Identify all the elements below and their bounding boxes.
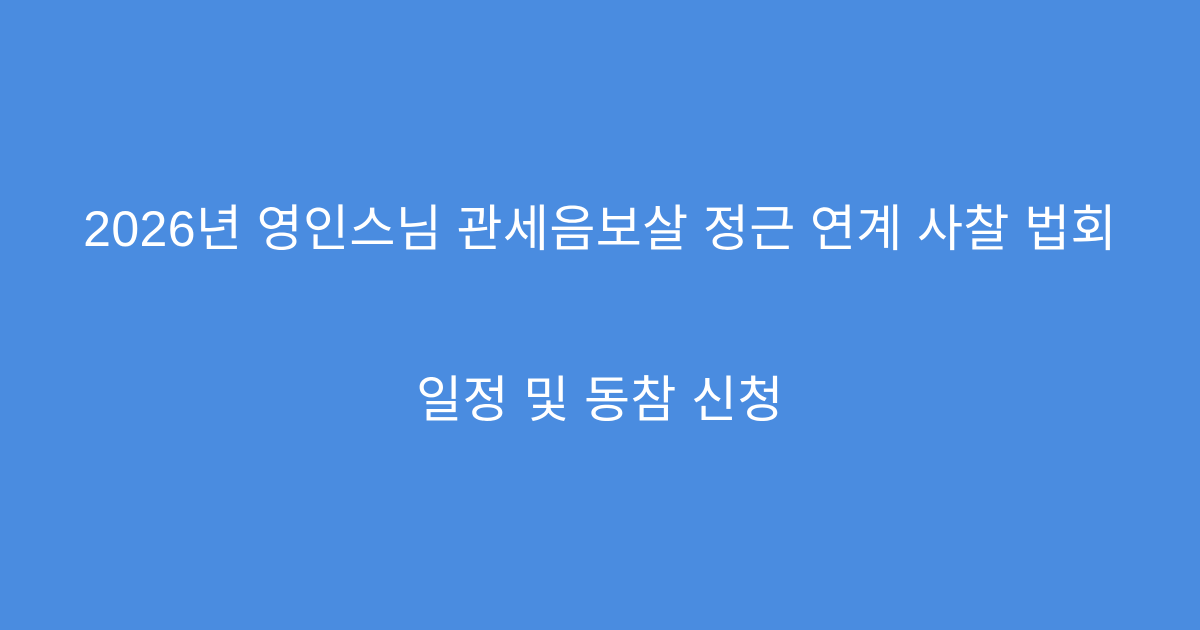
og-card-canvas: 2026년 영인스님 관세음보살 정근 연계 사찰 법회 일정 및 동참 신청	[0, 0, 1200, 630]
page-title-line-1: 2026년 영인스님 관세음보살 정근 연계 사찰 법회	[50, 201, 1150, 258]
page-title: 2026년 영인스님 관세음보살 정근 연계 사찰 법회 일정 및 동참 신청	[50, 87, 1150, 543]
page-title-line-2: 일정 및 동참 신청	[50, 372, 1150, 429]
title-block: 2026년 영인스님 관세음보살 정근 연계 사찰 법회 일정 및 동참 신청	[50, 87, 1150, 543]
